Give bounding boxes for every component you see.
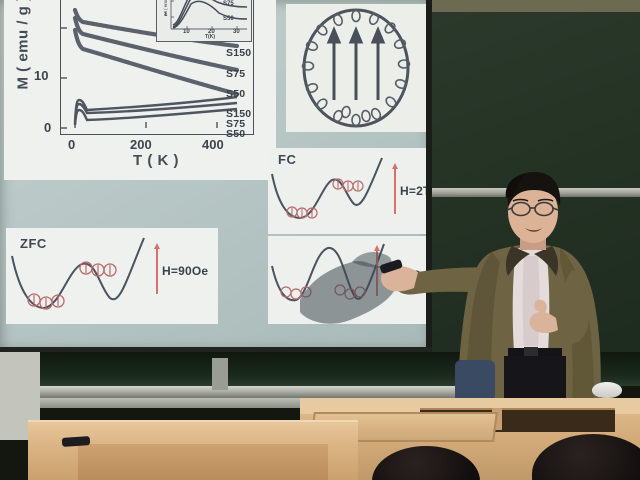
chalkboard-divider-post <box>212 358 228 390</box>
front-desk-panel <box>78 444 328 480</box>
chalkboard-frame <box>404 0 640 12</box>
lecture-photo: ZFC <box>0 0 640 480</box>
computer-mouse[interactable] <box>592 382 622 398</box>
chalkboard-right <box>404 0 640 372</box>
screen-bottom-edge <box>0 347 432 352</box>
chalkboard-rail-left <box>0 386 470 398</box>
remote-control[interactable] <box>62 436 91 447</box>
hand-shadow <box>0 0 432 352</box>
chalkboard-lower <box>0 352 640 386</box>
screen-right-edge <box>426 0 432 352</box>
projection-screen: ZFC <box>0 0 432 352</box>
chalkboard-chalk-rail <box>404 188 640 197</box>
